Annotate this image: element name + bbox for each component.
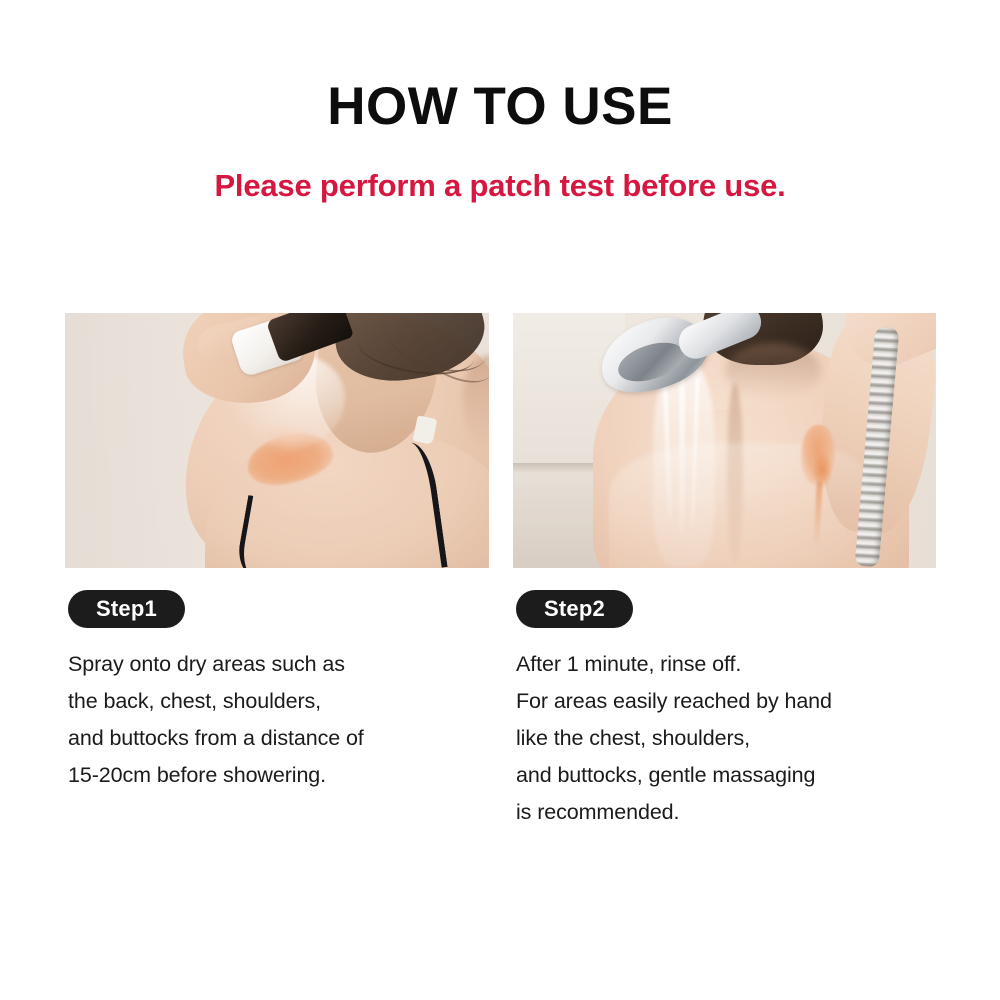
- patch-test-notice: Please perform a patch test before use.: [0, 167, 1000, 205]
- step1-description: Spray onto dry areas such as the back, c…: [68, 646, 498, 794]
- step2-description: After 1 minute, rinse off. For areas eas…: [516, 646, 946, 831]
- step2-block: Step2 After 1 minute, rinse off. For are…: [516, 590, 946, 831]
- step2-photo: [513, 313, 936, 568]
- step1-badge: Step1: [68, 590, 185, 628]
- step1-photo: [65, 313, 489, 568]
- step1-block: Step1 Spray onto dry areas such as the b…: [68, 590, 498, 794]
- step2-badge: Step2: [516, 590, 633, 628]
- how-to-use-page: HOW TO USE Please perform a patch test b…: [0, 0, 1000, 1000]
- neck-shadow: [725, 343, 821, 399]
- page-title: HOW TO USE: [0, 78, 1000, 136]
